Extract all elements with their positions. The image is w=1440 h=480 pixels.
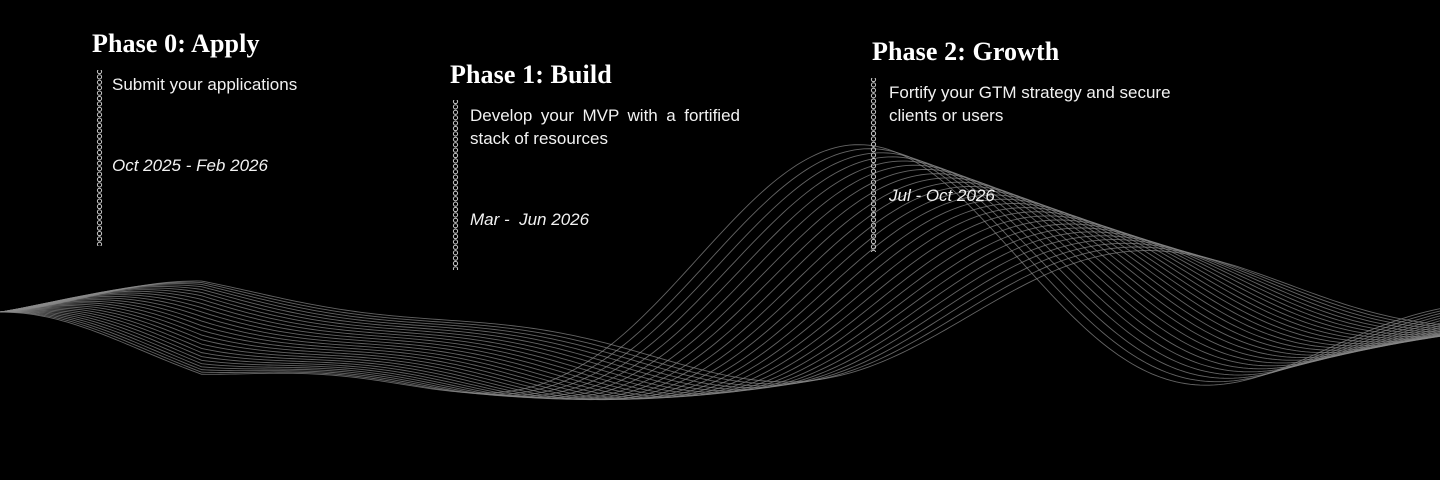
- wave-line: [0, 186, 1440, 399]
- wave-line: [0, 165, 1440, 398]
- wave-line: [0, 195, 1440, 399]
- phase-description-2: Fortify your GTM strategy and secure cli…: [889, 82, 1189, 128]
- wave-line: [0, 153, 1440, 396]
- wave-line: [0, 212, 1440, 397]
- wave-line: [0, 216, 1440, 396]
- wave-line: [0, 236, 1440, 390]
- wave-line: [0, 247, 1440, 384]
- wave-line: [0, 157, 1440, 397]
- phase-title-0: Phase 0: Apply: [92, 30, 260, 58]
- wave-line: [0, 220, 1440, 395]
- phase-description-0: Submit your applications: [112, 74, 362, 97]
- wave-line: [0, 182, 1440, 399]
- phase-title-1: Phase 1: Build: [450, 61, 612, 89]
- wave-line: [0, 203, 1440, 398]
- phase-date-range-2: Jul - Oct 2026: [889, 185, 995, 207]
- wave-line: [0, 178, 1440, 399]
- wave-line: [0, 228, 1440, 392]
- phase-date-range-0: Oct 2025 - Feb 2026: [112, 155, 268, 177]
- phase-title-2: Phase 2: Growth: [872, 38, 1059, 66]
- wave-line: [0, 169, 1440, 398]
- wave-line: [0, 208, 1440, 398]
- phase-block-1: Phase 1: BuildDevelop your MVP with a fo…: [0, 0, 1440, 480]
- wave-line: [0, 251, 1440, 382]
- wave-svg: [0, 0, 1440, 480]
- wave-line: [0, 161, 1440, 397]
- phase-connector-rail-0: [96, 70, 103, 246]
- wave-line: [0, 145, 1440, 393]
- wave-background-decoration: [0, 0, 1440, 480]
- phase-connector-rail-1: [452, 100, 459, 270]
- phase-description-1: Develop your MVP with a fortified stack …: [470, 105, 740, 151]
- wave-line: [0, 243, 1440, 386]
- phase-block-2: Phase 2: GrowthFortify your GTM strategy…: [0, 0, 1440, 480]
- wave-line: [0, 232, 1440, 391]
- phase-date-range-1: Mar - Jun 2026: [470, 209, 589, 231]
- wave-line: [0, 224, 1440, 394]
- wave-line: [0, 149, 1440, 395]
- wave-line: [0, 240, 1440, 388]
- phase-block-0: Phase 0: ApplySubmit your applicationsOc…: [0, 0, 1440, 480]
- wave-line: [0, 199, 1440, 399]
- roadmap-canvas: Phase 0: ApplySubmit your applicationsOc…: [0, 0, 1440, 480]
- wave-line: [0, 174, 1440, 399]
- wave-line: [0, 191, 1440, 400]
- phase-connector-rail-2: [870, 78, 877, 252]
